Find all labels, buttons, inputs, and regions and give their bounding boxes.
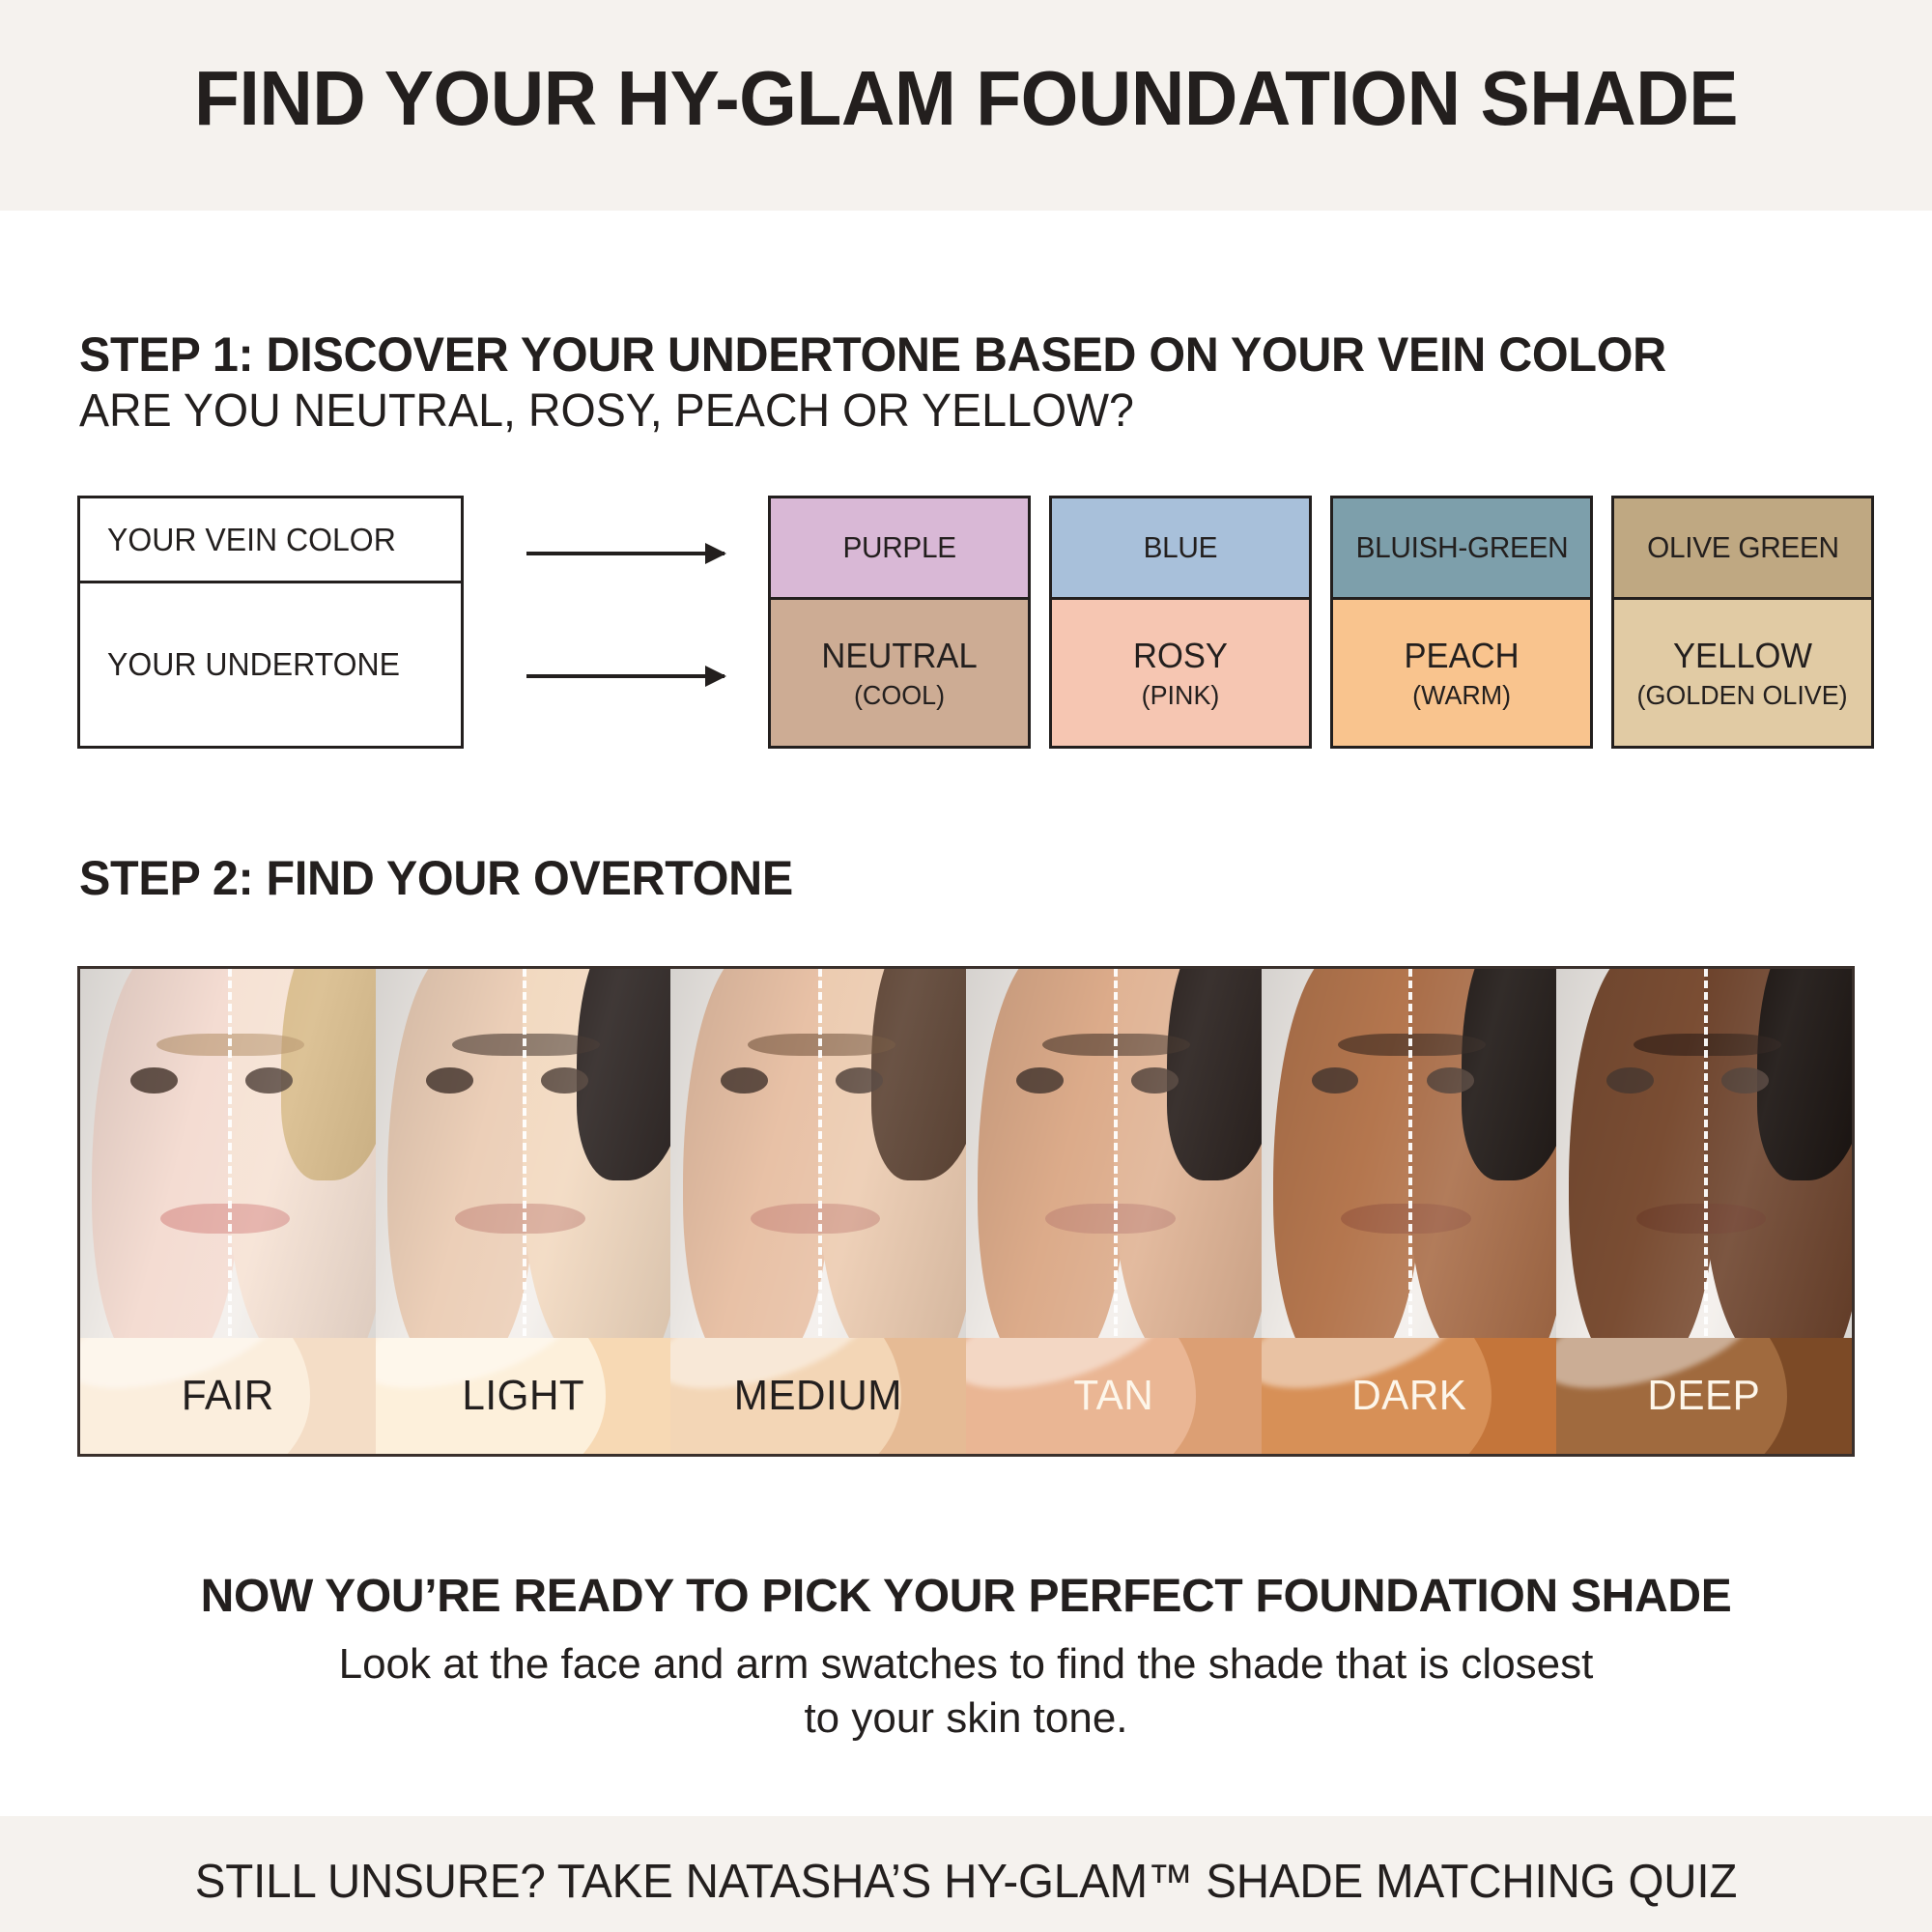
- undertone-column-purple: PURPLE NEUTRAL (COOL): [768, 496, 1031, 749]
- undertone-swatch-note: (WARM): [1412, 680, 1511, 711]
- undertone-swatch-label: ROSY: [1133, 636, 1228, 676]
- step1-subheading: ARE YOU NEUTRAL, ROSY, PEACH OR YELLOW?: [79, 384, 1134, 438]
- vein-swatch-bluish-green: BLUISH-GREEN: [1330, 496, 1593, 597]
- vein-swatch-label: OLIVE GREEN: [1647, 530, 1839, 565]
- shade-panel[interactable]: DARK: [1262, 969, 1557, 1454]
- undertone-swatch-note: (COOL): [854, 680, 945, 711]
- shade-name-label: MEDIUM: [676, 1338, 959, 1454]
- shade-name-label: DEEP: [1562, 1338, 1845, 1454]
- shade-panel[interactable]: TAN: [966, 969, 1262, 1454]
- portrait-photo: [80, 969, 376, 1348]
- vein-swatch-blue: BLUE: [1049, 496, 1312, 597]
- vein-color-row: YOUR VEIN COLOR: [80, 498, 461, 583]
- shade-panel[interactable]: MEDIUM: [670, 969, 966, 1454]
- closing-heading: NOW YOU’RE READY TO PICK YOUR PERFECT FO…: [0, 1570, 1932, 1623]
- undertone-column-olive-green: OLIVE GREEN YELLOW (GOLDEN OLIVE): [1611, 496, 1874, 749]
- undertone-column-blue: BLUE ROSY (PINK): [1049, 496, 1312, 749]
- split-divider-line: [1408, 969, 1412, 1348]
- undertone-swatch-label: NEUTRAL: [821, 636, 977, 676]
- shade-name-label: DARK: [1267, 1338, 1550, 1454]
- undertone-swatch-note: (GOLDEN OLIVE): [1637, 680, 1848, 711]
- overtone-shade-strip: FAIRLIGHTMEDIUMTANDARKDEEP: [77, 966, 1855, 1457]
- vein-undertone-label-table: YOUR VEIN COLOR YOUR UNDERTONE: [77, 496, 464, 749]
- portrait-photo: [1262, 969, 1557, 1348]
- closing-body-line2: to your skin tone.: [0, 1691, 1932, 1746]
- vein-color-row-label: YOUR VEIN COLOR: [107, 522, 396, 558]
- portrait-photo: [1556, 969, 1852, 1348]
- shade-name-label: LIGHT: [382, 1338, 665, 1454]
- undertone-swatch-label: PEACH: [1404, 636, 1519, 676]
- vein-swatch-label: BLUE: [1144, 530, 1218, 565]
- portrait-photo: [966, 969, 1262, 1348]
- closing-body: Look at the face and arm swatches to fin…: [0, 1637, 1932, 1747]
- split-divider-line: [1704, 969, 1708, 1348]
- shade-panel[interactable]: LIGHT: [376, 969, 671, 1454]
- portrait-photo: [670, 969, 966, 1348]
- split-divider-line: [228, 969, 232, 1348]
- foundation-swatch-smear: LIGHT: [376, 1338, 671, 1454]
- foundation-swatch-smear: DEEP: [1556, 1338, 1852, 1454]
- shade-name-label: TAN: [972, 1338, 1255, 1454]
- undertone-swatch-yellow: YELLOW (GOLDEN OLIVE): [1611, 597, 1874, 749]
- shade-name-label: FAIR: [86, 1338, 369, 1454]
- undertone-swatch-neutral: NEUTRAL (COOL): [768, 597, 1031, 749]
- shade-panel[interactable]: DEEP: [1556, 969, 1852, 1454]
- vein-swatch-label: BLUISH-GREEN: [1355, 530, 1568, 565]
- vein-swatch-olive-green: OLIVE GREEN: [1611, 496, 1874, 597]
- page-title: FIND YOUR HY-GLAM FOUNDATION SHADE: [39, 60, 1893, 137]
- undertone-row-label: YOUR UNDERTONE: [107, 646, 400, 683]
- undertone-column-bluish-green: BLUISH-GREEN PEACH (WARM): [1330, 496, 1593, 749]
- undertone-row: YOUR UNDERTONE: [80, 583, 461, 746]
- step2-heading: STEP 2: FIND YOUR OVERTONE: [79, 850, 793, 906]
- foundation-swatch-smear: DARK: [1262, 1338, 1557, 1454]
- foundation-swatch-smear: TAN: [966, 1338, 1262, 1454]
- split-divider-line: [523, 969, 526, 1348]
- vein-swatch-purple: PURPLE: [768, 496, 1031, 597]
- undertone-swatch-peach: PEACH (WARM): [1330, 597, 1593, 749]
- closing-body-line1: Look at the face and arm swatches to fin…: [0, 1637, 1932, 1691]
- undertone-swatch-label: YELLOW: [1673, 636, 1812, 676]
- foundation-swatch-smear: MEDIUM: [670, 1338, 966, 1454]
- portrait-photo: [376, 969, 671, 1348]
- shade-panel[interactable]: FAIR: [80, 969, 376, 1454]
- undertone-arrow-icon: [526, 674, 724, 678]
- split-divider-line: [818, 969, 822, 1348]
- shade-quiz-cta[interactable]: STILL UNSURE? TAKE NATASHA’S HY-GLAM™ SH…: [29, 1855, 1903, 1909]
- undertone-swatch-note: (PINK): [1142, 680, 1220, 711]
- foundation-swatch-smear: FAIR: [80, 1338, 376, 1454]
- undertone-swatch-rosy: ROSY (PINK): [1049, 597, 1312, 749]
- vein-swatch-label: PURPLE: [842, 530, 955, 565]
- step1-heading: STEP 1: DISCOVER YOUR UNDERTONE BASED ON…: [79, 327, 1666, 383]
- vein-color-arrow-icon: [526, 552, 724, 555]
- split-divider-line: [1114, 969, 1118, 1348]
